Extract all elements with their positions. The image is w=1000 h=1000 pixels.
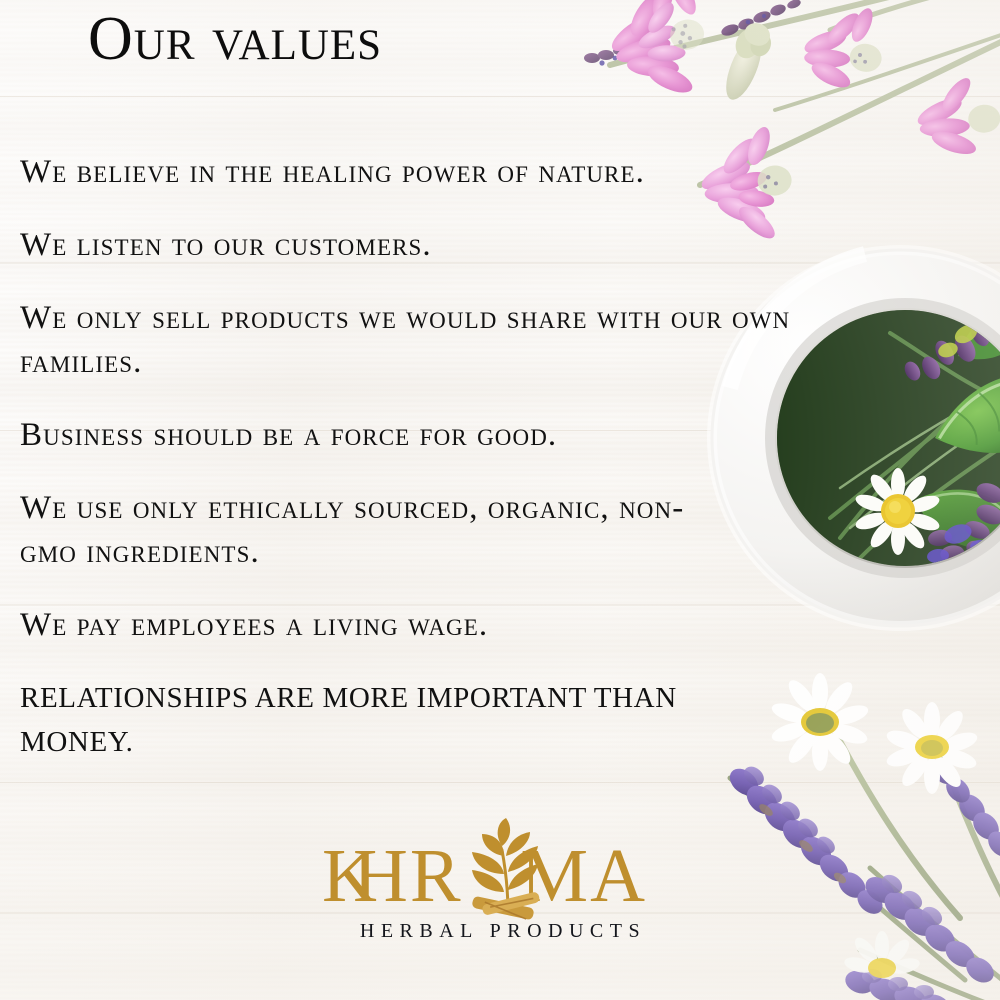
daisy-flower: [884, 702, 979, 794]
values-list: We believe in the healing power of natur…: [20, 150, 860, 793]
pink-strawflower: [795, 0, 888, 97]
flower-bud: [715, 18, 777, 106]
poster-canvas: Our values We believe in the healing pow…: [0, 0, 1000, 1000]
pink-strawflower: [912, 71, 1000, 162]
brand-initial: K: [322, 838, 377, 914]
lavender-sprig: [842, 967, 1000, 1000]
value-item: Business should be a force for good.: [20, 413, 830, 457]
brand-tagline: HERBAL PRODUCTS: [310, 920, 690, 943]
value-item: relationships are more important than mo…: [20, 676, 730, 764]
value-item: We believe in the healing power of natur…: [20, 150, 810, 194]
page-title: Our values: [88, 8, 382, 70]
value-item: We pay employees a living wage.: [20, 603, 860, 647]
herb-sprig-and-cinnamon-icon: [460, 816, 556, 926]
wood-plank-seam: [0, 96, 1000, 97]
value-item: We listen to our customers.: [20, 223, 820, 267]
chamomile-flower: [854, 468, 942, 555]
value-item: We only sell products we would share wit…: [20, 296, 810, 384]
value-item: We use only ethically sourced, organic, …: [20, 486, 700, 574]
brand-logo: HRMA: [0, 838, 1000, 963]
